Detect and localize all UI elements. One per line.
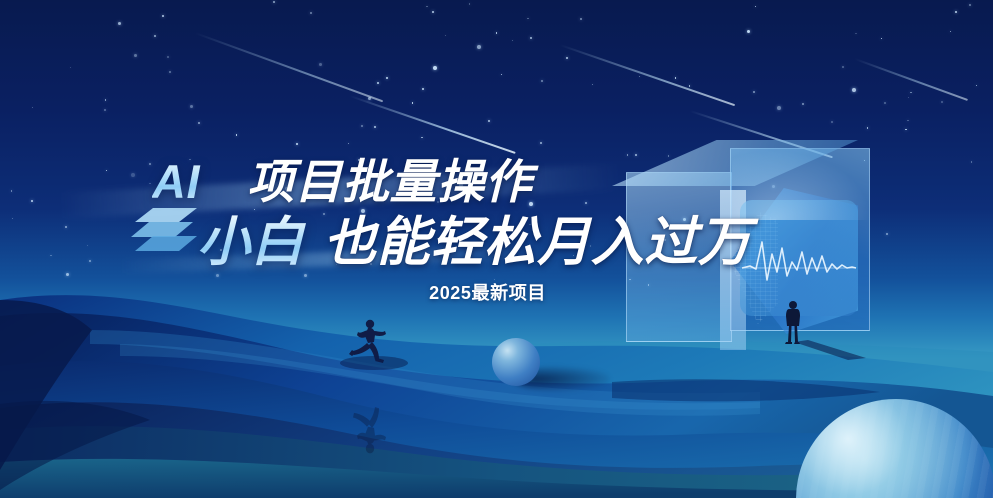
headline-line-2-plain: 也能轻松月入过万 [323, 213, 751, 272]
stacked-layers-icon [131, 206, 201, 264]
cube-highlight-glow [732, 150, 872, 220]
headline-line-2: 小白 也能轻松月入过万 [197, 200, 751, 276]
stander-shadow [792, 336, 868, 362]
running-person-reflection [348, 403, 392, 456]
promo-poster: AI 项目批量操作 小白 也能轻松月入过万 2025最新项目 [0, 0, 993, 498]
small-sphere [492, 338, 540, 386]
runner-shadow [340, 352, 420, 374]
subtitle: 2025最新项目 [0, 279, 993, 305]
headline-line-2-accent: 小白 [197, 213, 308, 272]
subtitle-text: 2025最新项目 [429, 283, 546, 303]
